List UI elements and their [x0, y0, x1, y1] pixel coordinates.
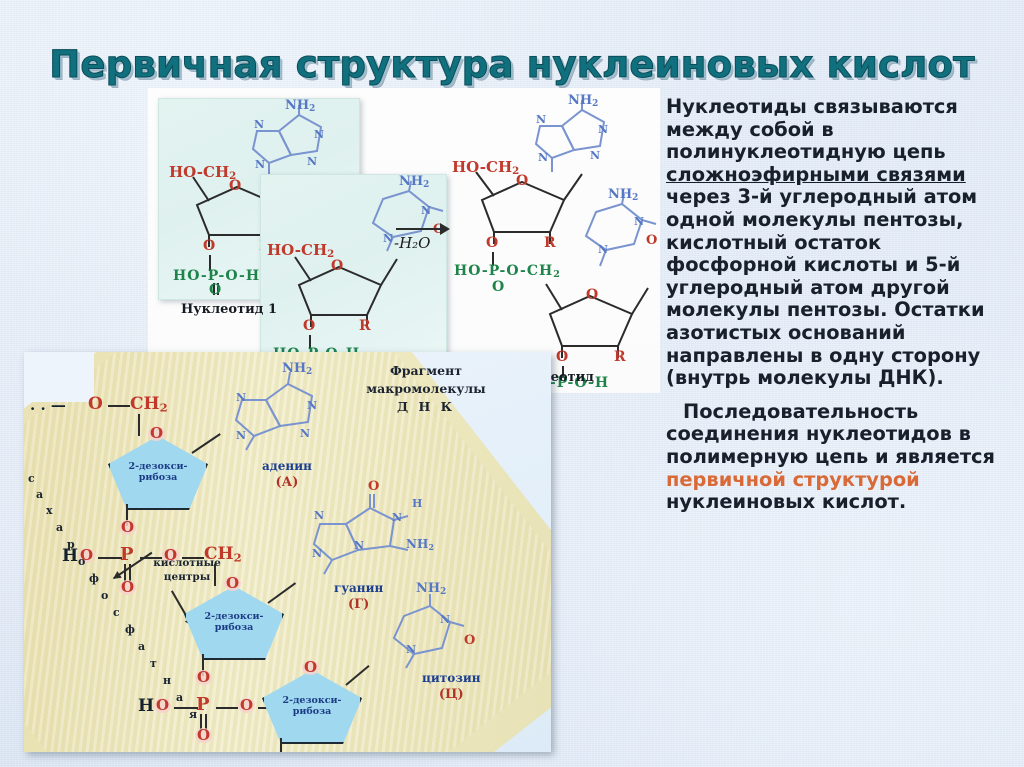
- bond: [280, 738, 282, 752]
- paragraph-1-part-2: через 3-й углеродный атом одной молекулы…: [666, 185, 985, 389]
- water-loss-label: -H₂O: [394, 234, 430, 252]
- base-label-cytosine: цитозин (Ц): [422, 670, 481, 704]
- paragraph-1: Нуклеотиды связываются между собой в пол…: [666, 96, 1018, 390]
- acid-centers-annotation: кислотные центры: [142, 557, 232, 584]
- amino-group-label: NH2: [399, 175, 429, 190]
- r-group-label: R: [614, 350, 626, 364]
- dna-title-line-1: Фрагмент: [356, 362, 496, 380]
- nitrogen-label: N: [440, 614, 450, 625]
- ring-oxygen-label: O: [302, 660, 319, 675]
- adenine-ring-nuc1: [237, 105, 347, 185]
- ester-oxygen-label: O: [203, 239, 215, 253]
- ester-oxygen-label: O: [195, 670, 212, 685]
- title-container: Первичная структура нуклеиновых кислот: [0, 18, 1024, 111]
- ring-nitrogen-label: N: [307, 156, 317, 167]
- ester-oxygen-label: O: [486, 236, 498, 250]
- hydroxymethyl-label-nuc1: HO-CH2: [169, 165, 236, 181]
- ring-oxygen-label: O: [224, 576, 241, 591]
- dna-title-line-3: Д Н К: [356, 398, 496, 416]
- ring-nitrogen-label: N: [598, 244, 608, 255]
- sugar-phosphate-backbone-label: с а х а р о ф о с ф а т н а я: [30, 472, 60, 742]
- nitrogen-label: N: [392, 512, 402, 523]
- ring-nitrogen-label: N: [314, 129, 324, 140]
- arrow-shaft: [396, 228, 444, 230]
- cytosine-ring-dinuc: [566, 198, 656, 268]
- hydrogen-label: H: [412, 498, 422, 509]
- paragraph-2-part-1: Последовательность соединения нуклеотидо…: [666, 400, 995, 468]
- ring-nitrogen-label: N: [421, 205, 431, 216]
- hydroxyl-oxygen-label: O: [154, 698, 171, 713]
- bond: [216, 707, 238, 709]
- phosphorus-label: P: [120, 546, 134, 564]
- oxygen-atom-label: O: [88, 396, 103, 413]
- deoxyribose-label: 2-дезокси-рибоза: [205, 612, 264, 634]
- ring-oxygen-label: O: [586, 288, 598, 302]
- ester-oxygen-label: O: [556, 350, 568, 364]
- r-group-label: R: [544, 236, 556, 250]
- deoxyribose-label: 2-дезокси-рибоза: [129, 462, 188, 484]
- guanine-ring-bottom: [296, 484, 426, 580]
- dinucleotide-structure: NH2 N N N N HO-CH2 O O R HO-P-O-CH2 O NH…: [448, 94, 658, 389]
- dna-fragment-title: Фрагмент макромолекулы Д Н К: [356, 362, 496, 416]
- nucleotide-2-panel: NH2 N N O HO-CH2 O O R HO-P-O-H O: [260, 174, 447, 376]
- nitrogen-label: N: [354, 540, 364, 551]
- nitrogen-label: N: [236, 392, 246, 403]
- hydroxymethyl-label-dinuc: HO-CH2: [452, 160, 519, 176]
- deoxyribose-label: 2-дезокси-рибоза: [283, 696, 342, 718]
- nitrogen-label: N: [300, 428, 310, 439]
- ho-group-label: H: [138, 698, 154, 715]
- caption-nucleotide-1: Нуклеотид 1: [181, 302, 277, 317]
- phosphoryl-oxygen-label: O: [119, 580, 136, 595]
- cytosine-ring-bottom: [372, 590, 462, 670]
- ester-oxygen-label: O: [119, 520, 136, 535]
- adenine-ring-bottom: [220, 370, 340, 456]
- phosphoryl-oxygen-label: O: [209, 283, 221, 297]
- nitrogen-label: N: [312, 548, 322, 559]
- amino-group-label: NH2: [282, 362, 312, 377]
- ring-nitrogen-label: N: [590, 150, 600, 161]
- ester-oxygen-label: O: [238, 698, 255, 713]
- nucleotide-condensation-figure: NH2 N N N N HO-CH2 O O R HO-P-O-H O: [148, 88, 660, 393]
- paragraph-2-highlight-term: первичной структурой: [666, 468, 920, 491]
- amino-group-label: NH2: [608, 188, 638, 203]
- adenine-ring-dinuc: [520, 100, 630, 180]
- phosphoryl-oxygen-label: O: [492, 280, 504, 294]
- phosphate-group-label-nuc1: HO-P-O-H: [173, 269, 260, 283]
- bond: [98, 557, 122, 559]
- ring-oxygen-label: O: [516, 174, 528, 188]
- paragraph-2: Последовательность соединения нуклеотидо…: [666, 401, 1018, 514]
- dna-title-line-2: макромолекулы: [356, 380, 496, 398]
- ring-oxygen-label: O: [148, 426, 165, 441]
- ester-oxygen-label: O: [303, 319, 315, 333]
- paragraph-2-part-2: нуклеиновых кислот.: [666, 490, 906, 513]
- ring-nitrogen-label: N: [598, 124, 608, 135]
- ring-nitrogen-label: N: [538, 152, 548, 163]
- nitrogen-label: N: [314, 510, 324, 521]
- reaction-arrow-group: -H₂O: [396, 218, 456, 258]
- hydroxymethyl-label-nuc2: HO-CH2: [267, 243, 334, 259]
- phosphorus-label: P: [196, 696, 210, 714]
- carbonyl-oxygen-label: O: [646, 234, 657, 247]
- phosphodiester-bridge-label: HO-P-O-CH2: [454, 264, 561, 280]
- ring-nitrogen-label: N: [634, 216, 644, 227]
- bond: [108, 405, 130, 407]
- r-group-label: R: [359, 319, 371, 333]
- nitrogen-label: N: [406, 644, 416, 655]
- figure-corner-mask: [24, 352, 94, 402]
- carbonyl-oxygen-label: O: [464, 634, 475, 647]
- phosphoryl-oxygen-label: O: [195, 728, 212, 743]
- body-text-column: Нуклеотиды связываются между собой в пол…: [666, 96, 1018, 525]
- ring-oxygen-label: O: [331, 259, 343, 273]
- methylene-label: CH2: [130, 396, 168, 414]
- bond: [138, 414, 140, 436]
- ring-nitrogen-label: N: [254, 119, 264, 130]
- page-title: Первичная структура нуклеиновых кислот: [49, 43, 975, 86]
- nitrogen-label: N: [307, 400, 317, 411]
- ring-oxygen-label: O: [229, 179, 241, 193]
- ring-nitrogen-label: N: [255, 159, 265, 170]
- paragraph-1-underlined-term: сложноэфирными связями: [666, 163, 966, 186]
- chain-continuation-label: . . —: [30, 398, 66, 413]
- dna-macromolecule-fragment-figure: Фрагмент макромолекулы Д Н К . . — O CH2…: [24, 352, 551, 752]
- ring-nitrogen-label: N: [536, 114, 546, 125]
- ring-nitrogen-label: N: [383, 233, 393, 244]
- acid-centers-line-1: кислотные: [142, 557, 232, 571]
- carbonyl-oxygen-label: O: [368, 480, 379, 493]
- nitrogen-label: N: [236, 430, 246, 441]
- acid-centers-line-2: центры: [142, 571, 232, 585]
- amino-group-label: NH2: [416, 582, 446, 597]
- amino-group-label: NH2: [406, 538, 434, 551]
